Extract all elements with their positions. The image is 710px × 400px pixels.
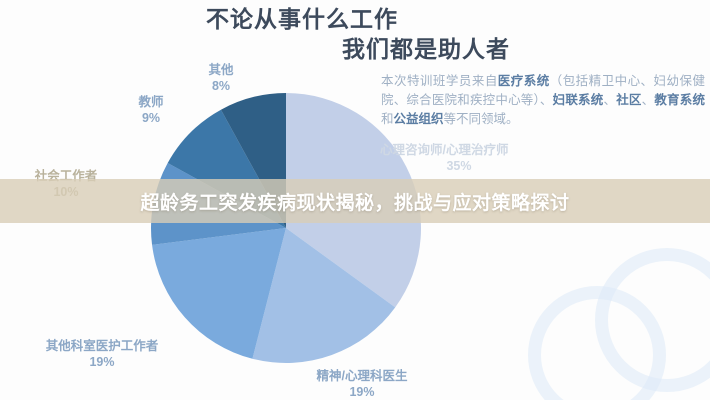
para-emph-community: 社区 [616, 93, 641, 107]
para-seg-6: 等不同领域。 [444, 112, 519, 126]
para-seg-1: 本次特训班学员来自 [381, 74, 498, 88]
pie-label-other-pct: 8% [176, 78, 266, 95]
description-paragraph: 本次特训班学员来自医疗系统（包括精卫中心、妇幼保健院、综合医院和疾控中心等）、妇… [381, 72, 705, 129]
overlay-banner-text: 超龄务工突发疾病现状揭秘，挑战与应对策略探讨 [0, 179, 710, 223]
page-title: 不论从事什么工作 我们都是助人者 [206, 4, 516, 64]
pie-label-psychiatrist: 精神/心理科医生 19% [276, 368, 448, 400]
pie-chart [150, 92, 422, 364]
slide-canvas: 不论从事什么工作 我们都是助人者 本次特训班学员来自医疗系统（包括精卫中心、妇幼… [0, 0, 710, 400]
pie-label-teacher-name: 教师 [108, 94, 194, 110]
pie-label-psychiatrist-pct: 19% [276, 384, 448, 400]
pie-label-teacher: 教师 9% [108, 94, 194, 127]
pie-label-other-name: 其他 [176, 62, 266, 78]
para-seg-4: 、 [642, 93, 655, 107]
para-emph-education: 教育系统 [654, 93, 705, 107]
para-seg-3: 、 [603, 93, 616, 107]
pie-label-psychiatrist-name: 精神/心理科医生 [276, 368, 448, 384]
para-emph-medical: 医疗系统 [498, 74, 550, 88]
pie-chart-svg [150, 92, 422, 364]
pie-label-other-department-pct: 19% [12, 354, 192, 371]
pie-label-teacher-pct: 9% [108, 110, 194, 127]
pie-label-counselor: 心理咨询师/心理治疗师 35% [380, 142, 566, 175]
pie-label-other-department: 其他科室医护工作者 19% [12, 338, 192, 371]
pie-label-other: 其他 8% [176, 62, 266, 95]
title-line-2: 我们都是助人者 [206, 34, 516, 64]
pie-label-counselor-name: 心理咨询师/心理治疗师 [380, 142, 566, 158]
title-line-1: 不论从事什么工作 [206, 4, 516, 34]
para-emph-womens-federation: 妇联系统 [553, 93, 604, 107]
pie-label-counselor-pct: 35% [380, 158, 538, 175]
pie-label-other-department-name: 其他科室医护工作者 [12, 338, 192, 354]
